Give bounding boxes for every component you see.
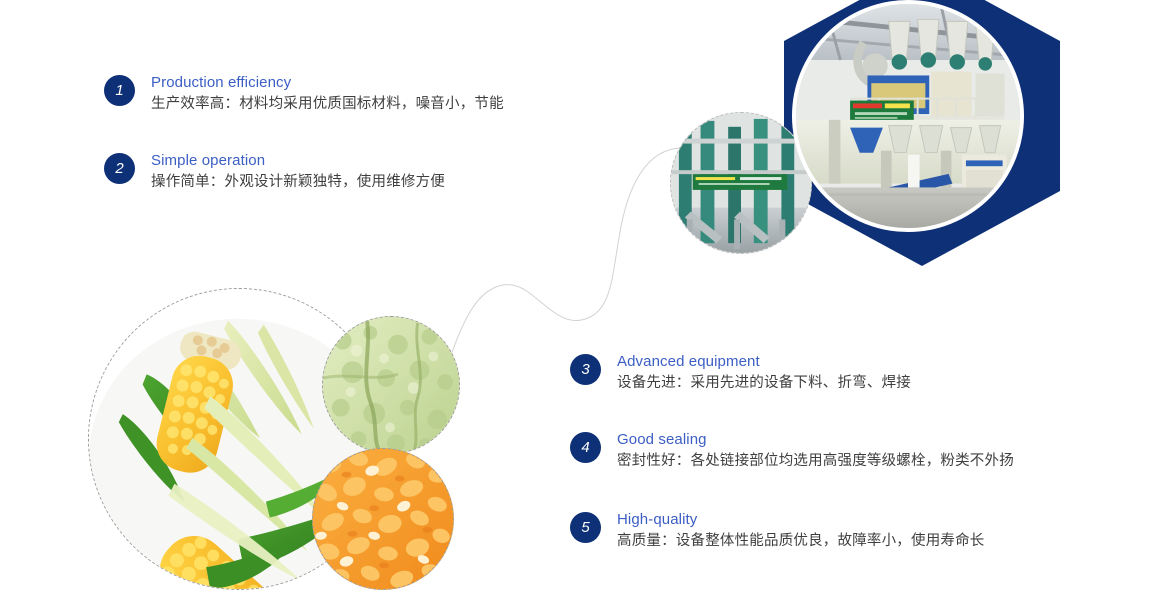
- feature-desc-5: 高质量：设备整体性能品质优良，故障率小，使用寿命长: [617, 530, 985, 552]
- grits-photo-art: [313, 449, 453, 589]
- feature-title-1: Production efficiency: [151, 72, 504, 93]
- feature-item-3: 3 Advanced equipment 设备先进：采用先进的设备下料、折弯、焊…: [570, 354, 911, 394]
- infographic-canvas: 1 Production efficiency 生产效率高：材料均采用优质国标材…: [0, 0, 1154, 591]
- feature-badge-4: 4: [570, 432, 601, 463]
- factory-image-cluster: [660, 0, 1154, 276]
- paste-photo-art: [323, 317, 459, 453]
- feature-text-4: Good sealing 密封性好：各处链接部位均选用高强度等级螺栓，粉类不外扬: [617, 429, 1014, 472]
- plant-photo-art: [796, 4, 1020, 228]
- corn-grits-kernels-photo: [312, 448, 454, 590]
- feature-item-2: 2 Simple operation 操作简单：外观设计新颖独特，使用维修方便: [104, 153, 445, 193]
- feature-desc-4: 密封性好：各处链接部位均选用高强度等级螺栓，粉类不外扬: [617, 450, 1014, 472]
- feature-badge-5: 5: [570, 512, 601, 543]
- green-corn-paste-photo: [322, 316, 460, 454]
- feature-badge-2: 2: [104, 153, 135, 184]
- feature-title-2: Simple operation: [151, 150, 445, 171]
- feature-desc-2: 操作简单：外观设计新颖独特，使用维修方便: [151, 171, 445, 193]
- feature-item-1: 1 Production efficiency 生产效率高：材料均采用优质国标材…: [104, 75, 504, 115]
- corn-image-cluster: [88, 288, 468, 591]
- feature-desc-3: 设备先进：采用先进的设备下料、折弯、焊接: [617, 372, 911, 394]
- feature-title-5: High-quality: [617, 509, 985, 530]
- green-milling-machinery-photo: [670, 112, 812, 254]
- feature-desc-1: 生产效率高：材料均采用优质国标材料，噪音小，节能: [151, 93, 504, 115]
- feature-item-4: 4 Good sealing 密封性好：各处链接部位均选用高强度等级螺栓，粉类不…: [570, 432, 1014, 472]
- feature-badge-1: 1: [104, 75, 135, 106]
- machinery-photo-art: [671, 113, 811, 253]
- feature-title-4: Good sealing: [617, 429, 1014, 450]
- feature-title-3: Advanced equipment: [617, 351, 911, 372]
- feature-text-1: Production efficiency 生产效率高：材料均采用优质国标材料，…: [151, 72, 504, 115]
- feature-text-5: High-quality 高质量：设备整体性能品质优良，故障率小，使用寿命长: [617, 509, 985, 552]
- feature-text-3: Advanced equipment 设备先进：采用先进的设备下料、折弯、焊接: [617, 351, 911, 394]
- feature-text-2: Simple operation 操作简单：外观设计新颖独特，使用维修方便: [151, 150, 445, 193]
- flour-milling-plant-photo: [792, 0, 1024, 232]
- feature-badge-3: 3: [570, 354, 601, 385]
- feature-item-5: 5 High-quality 高质量：设备整体性能品质优良，故障率小，使用寿命长: [570, 512, 985, 552]
